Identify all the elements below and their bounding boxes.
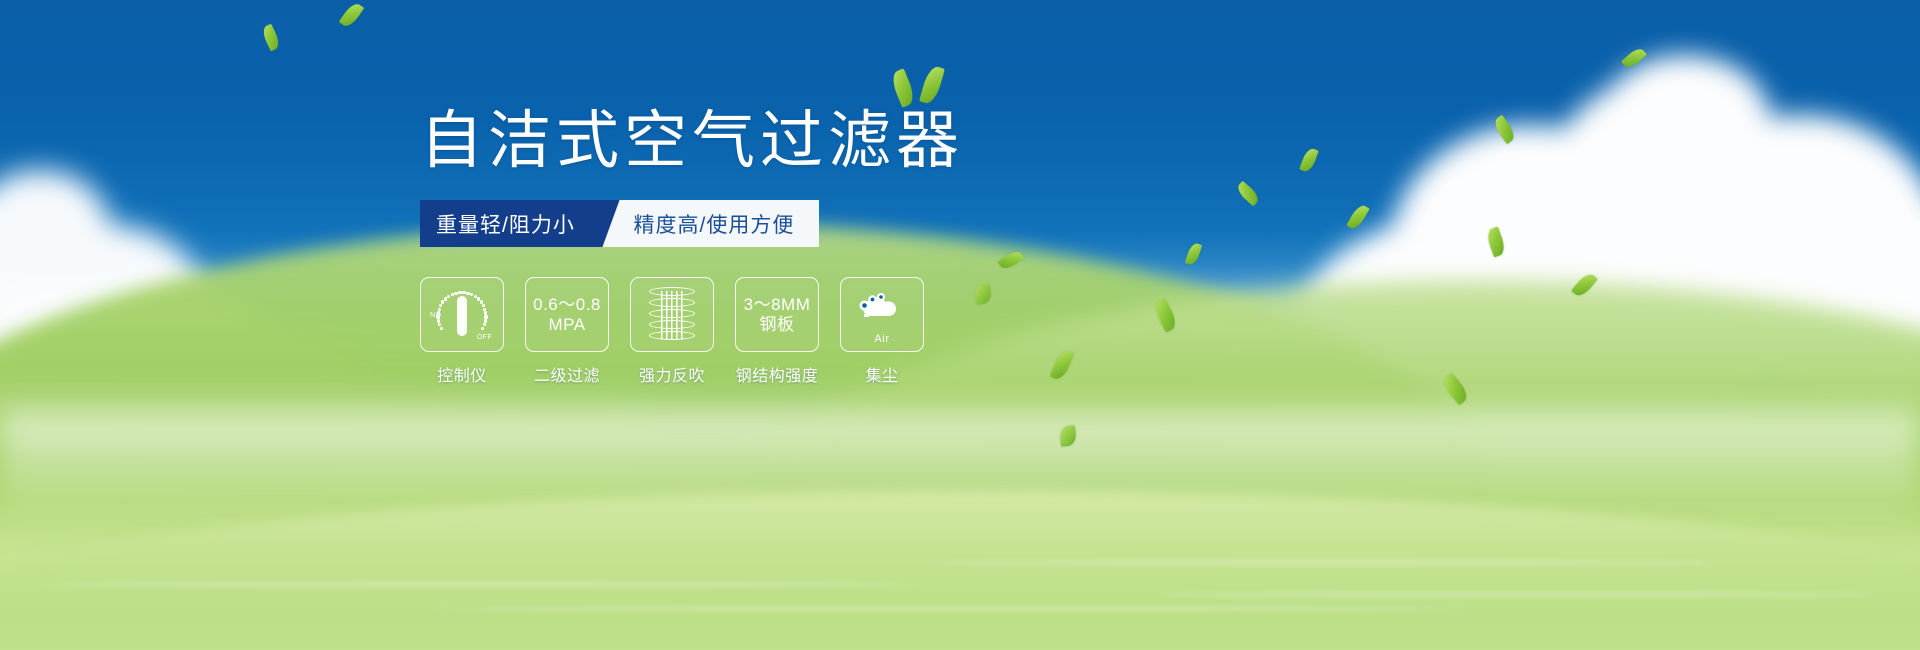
gauge-tick [482, 304, 485, 307]
feature-label: 钢结构强度 [736, 362, 819, 386]
tagline-right-label: 精度高/使用方便 [597, 200, 819, 247]
gauge-tick [458, 291, 461, 294]
feature-item-back-blow[interactable]: 强力反吹 [630, 277, 714, 386]
feature-icon-box: NO OFF [420, 277, 504, 352]
feature-item-two-stage-filter[interactable]: 0.6～0.8 MPA 二级过滤 [525, 277, 609, 386]
feature-icon-box [630, 277, 714, 352]
feature-icon-box: 0.6～0.8 MPA [525, 277, 609, 352]
gauge-tick [484, 319, 487, 322]
feature-label: 控制仪 [437, 362, 487, 386]
gauge-tick [438, 308, 441, 311]
feature-box-line2: MPA [548, 315, 585, 335]
air-cloud-icon [852, 284, 912, 332]
gauge-needle [457, 296, 467, 336]
gauge-tick [444, 297, 447, 300]
gauge-tick [437, 319, 440, 322]
backblow-icon [649, 287, 695, 343]
gauge-tick [466, 292, 469, 295]
gauge-tick [438, 323, 441, 326]
air-label: Air [874, 333, 889, 345]
gauge-icon: NO OFF [431, 287, 493, 343]
gauge-tick [436, 315, 439, 318]
feature-label: 二级过滤 [534, 362, 600, 386]
feature-list: NO OFF 控制仪 0.6～0.8 MPA 二级过滤 [420, 277, 1120, 386]
feature-item-steel-strength[interactable]: 3～8MM 钢板 钢结构强度 [735, 277, 819, 386]
headline-wrap: 自洁式空气过滤器 [420, 110, 964, 173]
banner-content: 自洁式空气过滤器 重量轻/阻力小 精度高/使用方便 NO OFF 控制仪 [420, 110, 1120, 386]
gauge-tick [454, 292, 457, 295]
feature-box-line2: 钢板 [760, 315, 795, 335]
feature-box-line1: 3～8MM [744, 295, 811, 315]
gauge-tick [484, 311, 487, 314]
gauge-tick [483, 323, 486, 326]
gauge-tick [481, 327, 484, 330]
gauge-tick [484, 315, 487, 318]
gauge-tick [447, 295, 450, 298]
gauge-tick [451, 293, 454, 296]
feature-item-dust-collection[interactable]: Air 集尘 [840, 277, 924, 386]
gauge-off-label: OFF [477, 334, 492, 341]
gauge-tick [441, 300, 444, 303]
gauge-tick [462, 291, 465, 294]
feature-label: 强力反吹 [639, 362, 705, 386]
feature-item-controller[interactable]: NO OFF 控制仪 [420, 277, 504, 386]
feature-label: 集尘 [865, 362, 898, 386]
feature-icon-box: 3～8MM 钢板 [735, 277, 819, 352]
page-title: 自洁式空气过滤器 [420, 110, 964, 173]
feature-icon-box: Air [840, 277, 924, 352]
gauge-tick [483, 308, 486, 311]
gauge-tick [470, 293, 473, 296]
gauge-tick [439, 304, 442, 307]
grass-field [0, 360, 1920, 650]
tagline-badge: 重量轻/阻力小 精度高/使用方便 [420, 200, 819, 247]
gauge-tick [440, 327, 443, 330]
product-hero-banner: 自洁式空气过滤器 重量轻/阻力小 精度高/使用方便 NO OFF 控制仪 [0, 0, 1920, 650]
gauge-tick [437, 311, 440, 314]
feature-box-line1: 0.6～0.8 [533, 295, 601, 315]
tagline-left-label: 重量轻/阻力小 [420, 200, 597, 247]
